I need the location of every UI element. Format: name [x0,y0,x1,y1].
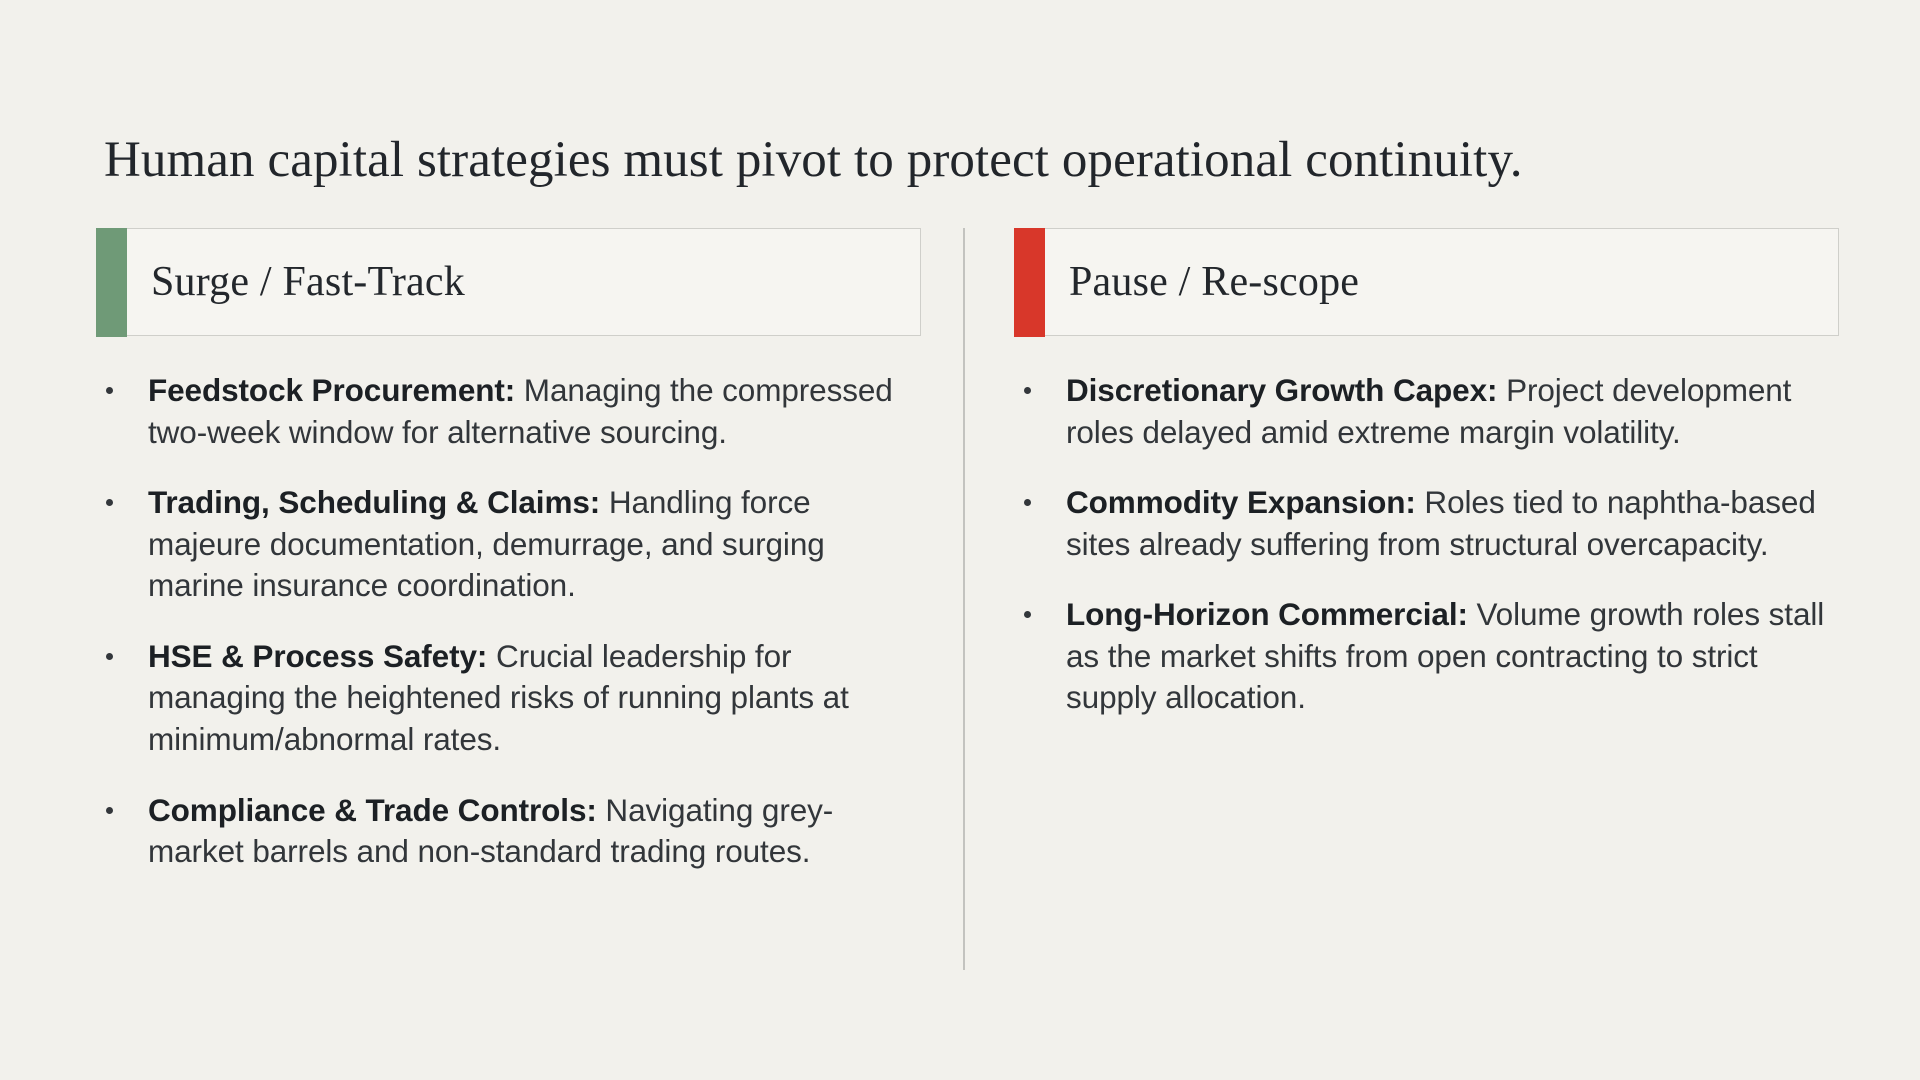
bullet-term: Long-Horizon Commercial: [1066,596,1468,632]
panel-pause-re-scope: Pause / Re-scope Discretionary Growth Ca… [1014,228,1839,735]
bullet-list-pause-re-scope: Discretionary Growth Capex: Project deve… [1014,370,1839,719]
panel-header-surge-fast-track: Surge / Fast-Track [96,228,921,336]
panel-title-pause-re-scope: Pause / Re-scope [1069,258,1359,306]
bullet-dot-icon [106,499,113,506]
bullet-term: Discretionary Growth Capex: [1066,372,1497,408]
slide-canvas: Human capital strategies must pivot to p… [0,0,1920,1080]
bullet-term: Trading, Scheduling & Claims: [148,484,600,520]
accent-bar-green [96,228,127,337]
panel-header-pause-re-scope: Pause / Re-scope [1014,228,1839,336]
list-item: HSE & Process Safety: Crucial leadership… [96,636,921,761]
panel-surge-fast-track: Surge / Fast-Track Feedstock Procurement… [96,228,921,889]
bullet-dot-icon [1024,611,1031,618]
list-item: Discretionary Growth Capex: Project deve… [1014,370,1839,453]
bullet-dot-icon [106,653,113,660]
bullet-term: Compliance & Trade Controls: [148,792,597,828]
bullet-dot-icon [1024,499,1031,506]
columns-container: Surge / Fast-Track Feedstock Procurement… [0,0,1920,1080]
list-item: Commodity Expansion: Roles tied to napht… [1014,482,1839,565]
list-item: Compliance & Trade Controls: Navigating … [96,790,921,873]
bullet-term: Commodity Expansion: [1066,484,1416,520]
list-item: Trading, Scheduling & Claims: Handling f… [96,482,921,607]
bullet-dot-icon [1024,387,1031,394]
list-item: Long-Horizon Commercial: Volume growth r… [1014,594,1839,719]
panel-title-surge-fast-track: Surge / Fast-Track [151,258,465,306]
bullet-term: Feedstock Procurement: [148,372,515,408]
list-item: Feedstock Procurement: Managing the comp… [96,370,921,453]
bullet-term: HSE & Process Safety: [148,638,487,674]
bullet-dot-icon [106,807,113,814]
bullet-dot-icon [106,387,113,394]
bullet-list-surge-fast-track: Feedstock Procurement: Managing the comp… [96,370,921,873]
accent-bar-red [1014,228,1045,337]
